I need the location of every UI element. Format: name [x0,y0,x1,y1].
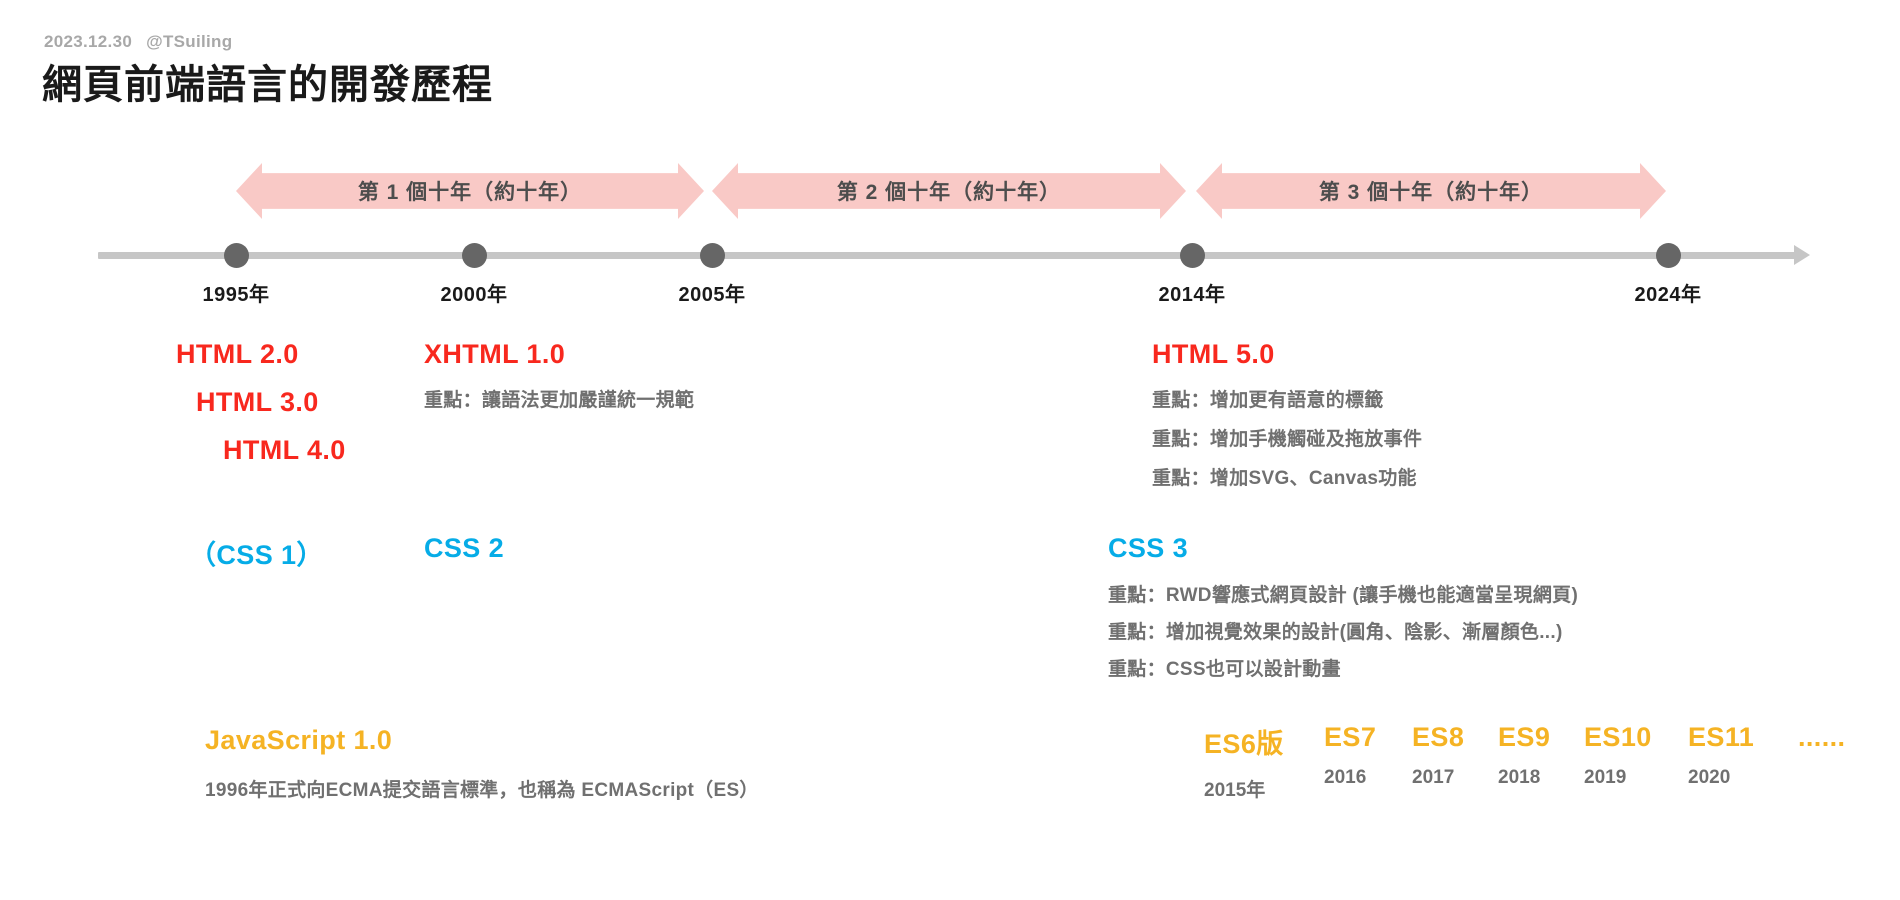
timeline-node-2014 [1180,243,1205,268]
html-5-note-3: 重點：增加SVG、Canvas功能 [1152,463,1417,490]
html-5-0-label: HTML 5.0 [1152,339,1275,370]
css-3-note-2: 重點：增加視覺效果的設計(圓角、陰影、漸層顏色...) [1108,617,1563,644]
html-5-note-2: 重點：增加手機觸碰及拖放事件 [1152,424,1422,451]
es-name: ES6版 [1204,722,1284,761]
es-year: 2020 [1688,767,1730,789]
es-item: ES6版 2015年 [1204,722,1324,802]
es-year: 2019 [1584,767,1626,789]
timeline-year-2024: 2024年 [1635,278,1702,307]
css-3-note-3: 重點：CSS也可以設計動畫 [1108,654,1341,681]
es-name: ES8 [1412,722,1464,753]
es-name: ES11 [1688,722,1754,753]
es-year: 2017 [1412,767,1454,789]
decade-arrow-3: 第 3 個十年（約十年） [1196,163,1666,219]
header-author: @TSuiling [146,32,232,51]
css-3-label: CSS 3 [1108,533,1188,564]
timeline-node-1995 [224,243,249,268]
timeline-node-2024 [1656,243,1681,268]
decade-arrow-1: 第 1 個十年（約十年） [236,163,704,219]
decade-arrow-2-label: 第 2 個十年（約十年） [837,176,1061,206]
html-3-0-label: HTML 3.0 [196,387,319,418]
decade-arrow-1-label: 第 1 個十年（約十年） [358,176,582,206]
timeline-year-2014: 2014年 [1159,278,1226,307]
page-title: 網頁前端語言的開發歷程 [42,52,493,110]
decade-band: 第 1 個十年（約十年） 第 2 個十年（約十年） 第 3 個十年（約十年） [0,163,1900,219]
javascript-note: 1996年正式向ECMA提交語言標準，也稱為 ECMAScript（ES） [205,775,759,802]
es-version-row: ES6版 2015年 ES7 2016 ES8 2017 ES9 2018 ES… [1204,722,1845,802]
html-4-0-label: HTML 4.0 [223,435,346,466]
timeline-axis [98,252,1798,259]
header-meta: 2023.12.30@TSuiling [44,32,232,52]
decade-arrow-3-label: 第 3 個十年（約十年） [1319,176,1543,206]
html-2-0-label: HTML 2.0 [176,339,299,370]
html-5-note-1: 重點：增加更有語意的標籤 [1152,385,1384,412]
es-name: ES9 [1498,722,1550,753]
es-year: 2018 [1498,767,1540,789]
xhtml-1-0-label: XHTML 1.0 [424,339,565,370]
es-year: 2016 [1324,767,1366,789]
es-item: ES11 2020 [1688,722,1798,789]
decade-arrow-2: 第 2 個十年（約十年） [712,163,1186,219]
es-item: ES9 2018 [1498,722,1584,789]
es-year: 2015年 [1204,775,1265,802]
es-name: ES7 [1324,722,1376,753]
css-1-label: （CSS 1） [189,533,324,572]
es-name: ...... [1798,722,1845,753]
es-item-more: ...... [1798,722,1845,767]
javascript-1-0-label: JavaScript 1.0 [205,725,392,756]
es-item: ES8 2017 [1412,722,1498,789]
timeline-node-2000 [462,243,487,268]
timeline-node-2005 [700,243,725,268]
css-2-label: CSS 2 [424,533,504,564]
xhtml-note: 重點：讓語法更加嚴謹統一規範 [424,385,694,412]
css-3-note-1: 重點：RWD響應式網頁設計 (讓手機也能適當呈現網頁) [1108,580,1578,607]
header-date: 2023.12.30 [44,32,132,51]
timeline-year-2005: 2005年 [679,278,746,307]
axis-arrowhead-icon [1794,245,1810,265]
es-name: ES10 [1584,722,1652,753]
es-item: ES10 2019 [1584,722,1688,789]
timeline-year-2000: 2000年 [441,278,508,307]
timeline-year-1995: 1995年 [203,278,270,307]
es-item: ES7 2016 [1324,722,1412,789]
